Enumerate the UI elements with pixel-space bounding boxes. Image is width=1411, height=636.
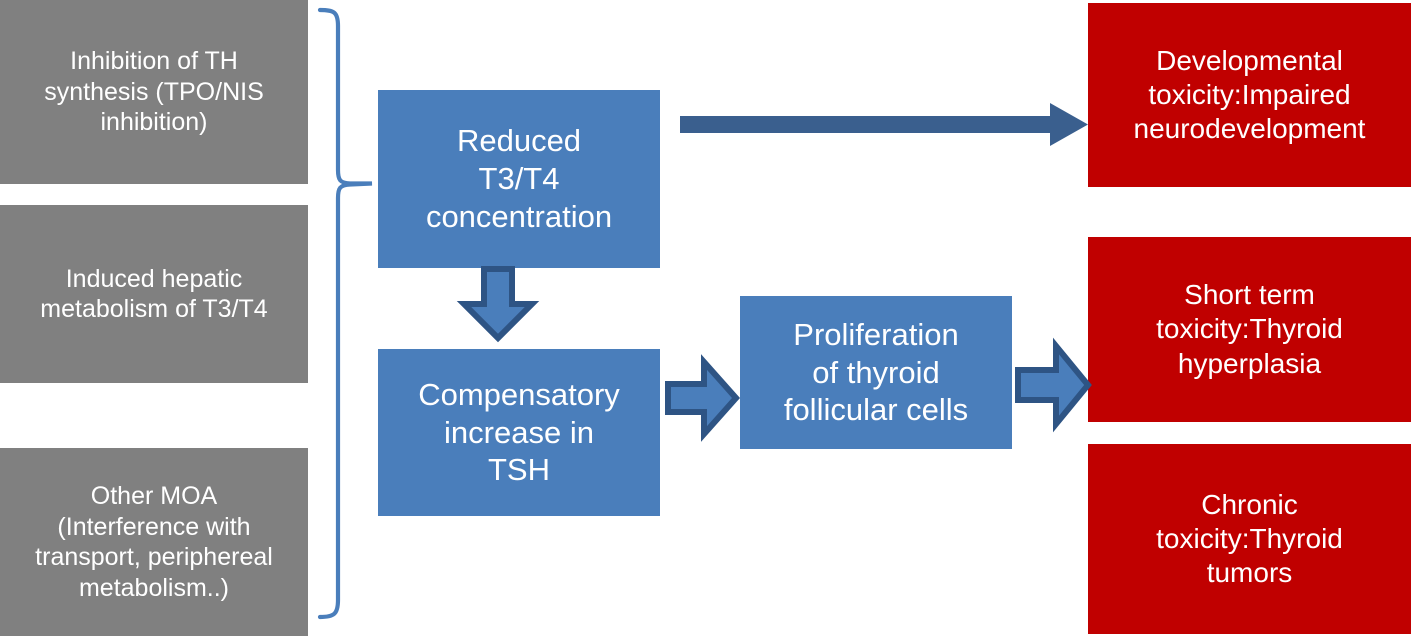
key-event-box-reduced-t3-t4[interactable]: Reduced T3/T4 concentration: [378, 90, 660, 268]
initiating-event-box-1[interactable]: Inhibition of TH synthesis (TPO/NIS inhi…: [0, 0, 308, 184]
initiating-event-label-2: Induced hepatic metabolism of T3/T4: [40, 264, 267, 325]
key-event-label-compensatory-tsh: Compensatory increase in TSH: [418, 376, 620, 489]
diagram-canvas: Inhibition of TH synthesis (TPO/NIS inhi…: [0, 0, 1411, 636]
outcome-box-chronic-toxicity[interactable]: Chronic toxicity:Thyroid tumors: [1088, 444, 1411, 634]
outcome-label-developmental-toxicity: Developmental toxicity:Impaired neurodev…: [1134, 44, 1366, 146]
key-event-box-compensatory-tsh[interactable]: Compensatory increase in TSH: [378, 349, 660, 516]
outcome-label-short-term-toxicity: Short term toxicity:Thyroid hyperplasia: [1156, 278, 1343, 380]
initiating-event-box-2[interactable]: Induced hepatic metabolism of T3/T4: [0, 205, 308, 383]
arrow-proliferation-to-toxicity: [1014, 340, 1092, 430]
key-event-box-proliferation[interactable]: Proliferation of thyroid follicular cell…: [740, 296, 1012, 449]
arrow-reduced-th-to-developmental-toxicity: [680, 100, 1092, 160]
initiating-event-box-3[interactable]: Other MOA (Interference with transport, …: [0, 448, 308, 636]
initiating-event-label-3: Other MOA (Interference with transport, …: [35, 481, 273, 603]
brace-grouping-initiating-events: [300, 0, 380, 636]
arrow-compensatory-tsh-to-proliferation: [664, 356, 740, 440]
key-event-label-proliferation: Proliferation of thyroid follicular cell…: [784, 316, 968, 429]
initiating-event-label-1: Inhibition of TH synthesis (TPO/NIS inhi…: [44, 46, 264, 138]
arrow-reduced-th-to-compensatory-tsh: [458, 266, 538, 342]
key-event-label-reduced-t3-t4: Reduced T3/T4 concentration: [426, 122, 612, 235]
outcome-box-developmental-toxicity[interactable]: Developmental toxicity:Impaired neurodev…: [1088, 3, 1411, 187]
outcome-label-chronic-toxicity: Chronic toxicity:Thyroid tumors: [1156, 488, 1343, 590]
outcome-box-short-term-toxicity[interactable]: Short term toxicity:Thyroid hyperplasia: [1088, 237, 1411, 422]
